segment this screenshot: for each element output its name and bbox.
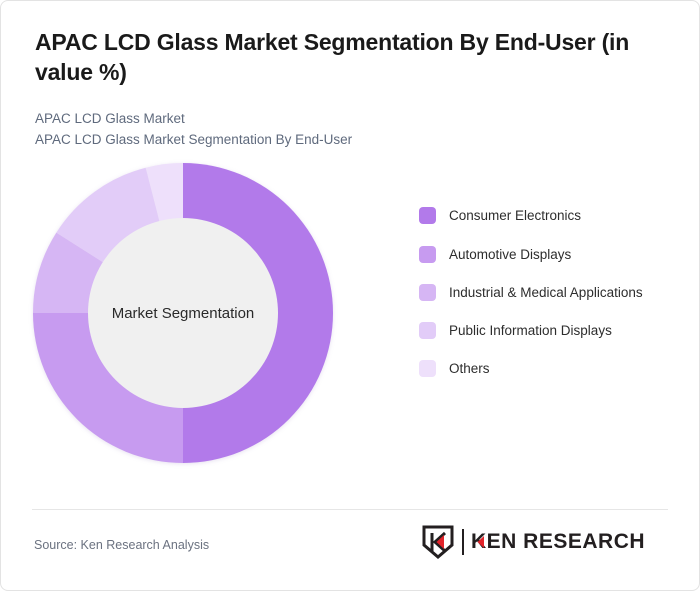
legend-color-swatch (419, 360, 436, 377)
legend-item[interactable]: Industrial & Medical Applications (419, 283, 681, 302)
ken-research-shield-icon (422, 525, 454, 559)
legend-item-label: Industrial & Medical Applications (449, 283, 643, 302)
brand-wordmark-text: KEN RESEARCH (471, 530, 645, 553)
legend-item-label: Others (449, 359, 490, 378)
page-title: APAC LCD Glass Market Segmentation By En… (35, 27, 665, 88)
legend-item[interactable]: Automotive Displays (419, 245, 681, 264)
donut-center-hole (88, 218, 278, 408)
chart-body: Market Segmentation Consumer Electronics… (1, 150, 699, 480)
source-note: Source: Ken Research Analysis (34, 538, 209, 552)
ken-research-wordmark: KEN RESEARCH (471, 530, 669, 554)
brand-separator (462, 529, 464, 555)
legend-color-swatch (419, 284, 436, 301)
donut-chart: Market Segmentation (33, 163, 333, 463)
subtitle-group: APAC LCD Glass Market APAC LCD Glass Mar… (35, 108, 665, 151)
legend-color-swatch (419, 246, 436, 263)
brand-logo: KEN RESEARCH (422, 525, 669, 559)
chart-card: APAC LCD Glass Market Segmentation By En… (0, 0, 700, 591)
subtitle-market: APAC LCD Glass Market (35, 108, 665, 129)
legend-item-label: Consumer Electronics (449, 206, 581, 225)
legend-color-swatch (419, 322, 436, 339)
chart-legend: Consumer ElectronicsAutomotive DisplaysI… (419, 206, 681, 397)
donut-svg (33, 163, 333, 463)
legend-item[interactable]: Consumer Electronics (419, 206, 681, 225)
legend-item[interactable]: Public Information Displays (419, 321, 681, 340)
legend-color-swatch (419, 207, 436, 224)
legend-item-label: Automotive Displays (449, 245, 571, 264)
footer-divider (32, 509, 668, 510)
legend-item[interactable]: Others (419, 359, 681, 378)
subtitle-segmentation: APAC LCD Glass Market Segmentation By En… (35, 129, 665, 150)
legend-item-label: Public Information Displays (449, 321, 612, 340)
chart-header: APAC LCD Glass Market Segmentation By En… (1, 1, 699, 150)
